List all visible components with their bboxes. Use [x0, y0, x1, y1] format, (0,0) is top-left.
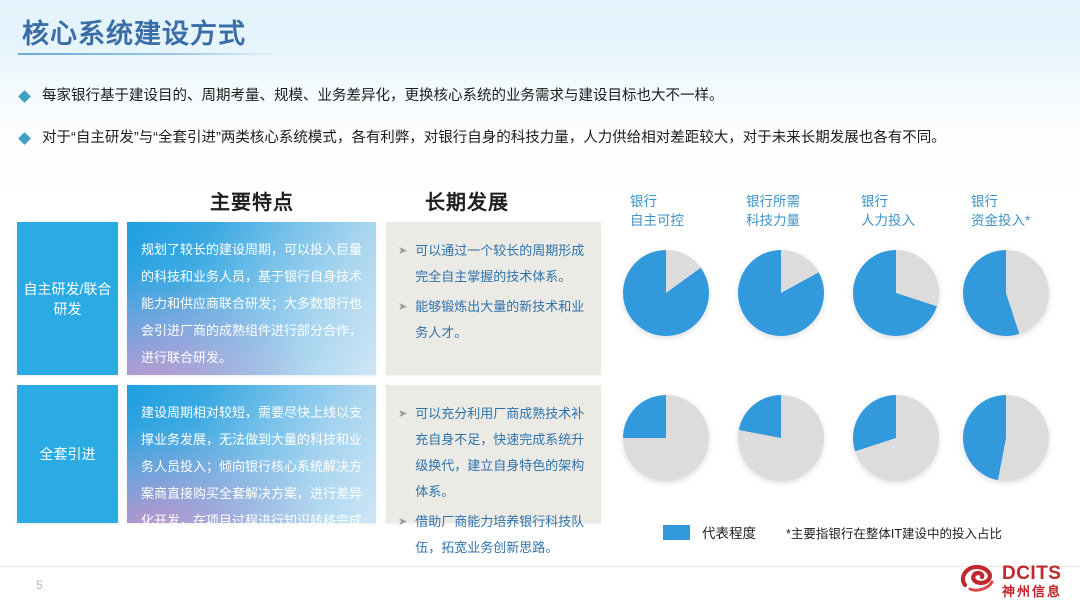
legend-footnote: *主要指银行在整体IT建设中的投入占比 — [786, 523, 1002, 542]
title-underline — [18, 53, 282, 55]
longterm-text: 可以充分利用厂商成熟技术补充自身不足，快速完成系统升级换代，建立自身特色的架构体… — [415, 401, 587, 505]
footer-divider — [0, 566, 1080, 567]
bullet-text-1: 每家银行基于建设目的、周期考量、规模、业务差异化，更换核心系统的业务需求与建设目… — [42, 86, 724, 106]
arrow-bullet-icon: ➤ — [398, 238, 407, 264]
logo-text-en: DCITS — [1002, 564, 1062, 583]
longterm-cell-row2: ➤ 可以充分利用厂商成熟技术补充自身不足，快速完成系统升级换代，建立自身特色的架… — [386, 385, 601, 523]
pie-chart-row1-col2 — [738, 250, 824, 336]
arrow-bullet-icon: ➤ — [398, 294, 407, 320]
legend-swatch-icon — [663, 525, 690, 540]
logo-text-cn: 神州信息 — [1002, 585, 1062, 598]
pie-chart-row1-col1 — [623, 250, 709, 336]
diamond-bullet-icon — [18, 132, 31, 145]
features-cell-row1: 规划了较长的建设周期，可以投入巨量的科技和业务人员，基于银行自身技术能力和供应商… — [127, 222, 376, 375]
pie-header-0: 银行 自主可控 — [630, 192, 684, 230]
pie-header-2: 银行 人力投入 — [861, 192, 915, 230]
bullet-item-2: 对于“自主研发”与“全套引进”两类核心系统模式，各有利弊，对银行自身的科技力量，… — [20, 128, 946, 148]
arrow-bullet-icon: ➤ — [398, 401, 407, 427]
longterm-text: 能够锻炼出大量的新技术和业务人才。 — [415, 294, 587, 346]
pie-chart-row1-col3 — [853, 250, 939, 336]
pie-chart-row2-col3 — [853, 395, 939, 481]
bullet-item-1: 每家银行基于建设目的、周期考量、规模、业务差异化，更换核心系统的业务需求与建设目… — [20, 86, 724, 106]
column-header-features: 主要特点 — [210, 186, 294, 215]
longterm-text: 可以通过一个较长的周期形成完全自主掌握的技术体系。 — [415, 238, 587, 290]
list-item: ➤ 可以充分利用厂商成熟技术补充自身不足，快速完成系统升级换代，建立自身特色的架… — [396, 401, 587, 505]
arrow-bullet-icon: ➤ — [398, 509, 407, 535]
slide-canvas: 核心系统建设方式 每家银行基于建设目的、周期考量、规模、业务差异化，更换核心系统… — [0, 0, 1080, 608]
column-header-longterm: 长期发展 — [425, 186, 509, 215]
pie-chart-row2-col2 — [738, 395, 824, 481]
bullet-text-2: 对于“自主研发”与“全套引进”两类核心系统模式，各有利弊，对银行自身的科技力量，… — [42, 128, 946, 148]
pie-header-3: 银行 资金投入* — [971, 192, 1030, 230]
list-item: ➤ 借助厂商能力培养银行科技队伍，拓宽业务创新思路。 — [396, 509, 587, 561]
dcits-swoosh-icon — [961, 563, 995, 598]
list-item: ➤ 能够锻炼出大量的新技术和业务人才。 — [396, 294, 587, 346]
longterm-text: 借助厂商能力培养银行科技队伍，拓宽业务创新思路。 — [415, 509, 587, 561]
row-label-self-developed: 自主研发/联合研发 — [17, 222, 118, 375]
pie-chart-row2-col4 — [963, 395, 1049, 481]
pie-header-1: 银行所需 科技力量 — [746, 192, 800, 230]
chart-legend: 代表程度 *主要指银行在整体IT建设中的投入占比 — [663, 522, 1002, 542]
page-title: 核心系统建设方式 — [22, 12, 246, 51]
page-number: 5 — [36, 578, 43, 592]
pie-chart-row2-col1 — [623, 395, 709, 481]
features-cell-row2: 建设周期相对较短，需要尽快上线以支撑业务发展，无法做到大量的科技和业务人员投入；… — [127, 385, 376, 523]
list-item: ➤ 可以通过一个较长的周期形成完全自主掌握的技术体系。 — [396, 238, 587, 290]
logo-text: DCITS 神州信息 — [1002, 564, 1062, 598]
legend-label: 代表程度 — [702, 522, 756, 542]
pie-chart-row1-col4 — [963, 250, 1049, 336]
diamond-bullet-icon — [18, 90, 31, 103]
row-label-full-import: 全套引进 — [17, 385, 118, 523]
longterm-cell-row1: ➤ 可以通过一个较长的周期形成完全自主掌握的技术体系。 ➤ 能够锻炼出大量的新技… — [386, 222, 601, 375]
company-logo: DCITS 神州信息 — [961, 563, 1062, 598]
